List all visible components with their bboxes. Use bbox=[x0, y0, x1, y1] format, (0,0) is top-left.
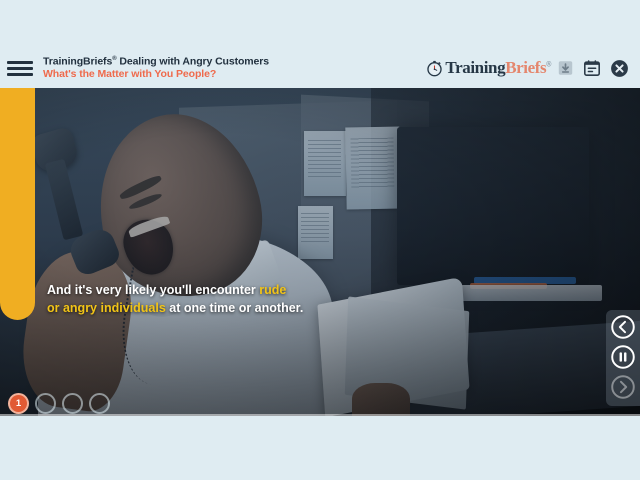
pagination-dot-1[interactable]: 1 bbox=[8, 393, 29, 414]
course-subtitle: What's the Matter with You People? bbox=[43, 69, 426, 80]
brand-registered-mark: ® bbox=[546, 61, 551, 68]
stage-bottom-edge bbox=[0, 414, 640, 416]
header-titles: TrainingBriefs® Dealing with Angry Custo… bbox=[43, 56, 426, 80]
course-title-rest: Dealing with Angry Customers bbox=[117, 56, 269, 68]
caption-line1-plain: And it's very likely you'll encounter bbox=[47, 283, 259, 297]
brand-word-training: Training bbox=[445, 58, 505, 77]
next-button[interactable] bbox=[610, 374, 636, 400]
download-icon[interactable] bbox=[557, 59, 574, 77]
player-controls bbox=[606, 310, 640, 406]
caption-text: And it's very likely you'll encounter ru… bbox=[47, 282, 377, 318]
person-hand bbox=[352, 383, 410, 416]
pinned-paper bbox=[304, 131, 346, 197]
video-frame-image bbox=[0, 88, 640, 416]
computer-monitor bbox=[397, 127, 589, 284]
pagination-dot-4[interactable]: 4 bbox=[89, 393, 110, 414]
caption-line2-highlight: or angry individuals bbox=[47, 301, 166, 315]
hamburger-bar bbox=[7, 73, 33, 76]
player-header: TrainingBriefs® Dealing with Angry Custo… bbox=[0, 48, 640, 88]
pinned-paper bbox=[298, 206, 333, 258]
previous-button[interactable] bbox=[610, 314, 636, 340]
caption-line2-plain: at one time or another. bbox=[166, 301, 304, 315]
notes-icon[interactable] bbox=[583, 59, 601, 77]
video-stage[interactable] bbox=[0, 88, 640, 416]
caption-line1-highlight: rude bbox=[259, 283, 286, 297]
paper-stack bbox=[461, 285, 602, 301]
accent-bar bbox=[0, 88, 35, 320]
trainingbriefs-logo: TrainingBriefs® bbox=[426, 58, 551, 78]
pagination-dot-2[interactable]: 2 bbox=[35, 393, 56, 414]
pause-button[interactable] bbox=[610, 344, 636, 370]
course-title: TrainingBriefs® Dealing with Angry Custo… bbox=[43, 56, 426, 68]
hamburger-menu-icon[interactable] bbox=[7, 61, 41, 76]
stopwatch-icon bbox=[426, 60, 443, 77]
pagination-dot-3[interactable]: 3 bbox=[62, 393, 83, 414]
brand-wordmark: TrainingBriefs® bbox=[445, 58, 551, 78]
slide-pagination: 1 2 3 4 bbox=[8, 393, 110, 414]
hamburger-bar bbox=[7, 61, 33, 64]
header-action-icons bbox=[557, 59, 629, 78]
pinned-paper bbox=[345, 127, 401, 210]
course-player-window: TrainingBriefs® Dealing with Angry Custo… bbox=[0, 0, 640, 480]
course-title-brand: TrainingBriefs bbox=[43, 56, 112, 68]
hamburger-bar bbox=[7, 67, 33, 70]
brand-word-briefs: Briefs bbox=[505, 58, 546, 77]
close-icon[interactable] bbox=[610, 59, 629, 78]
